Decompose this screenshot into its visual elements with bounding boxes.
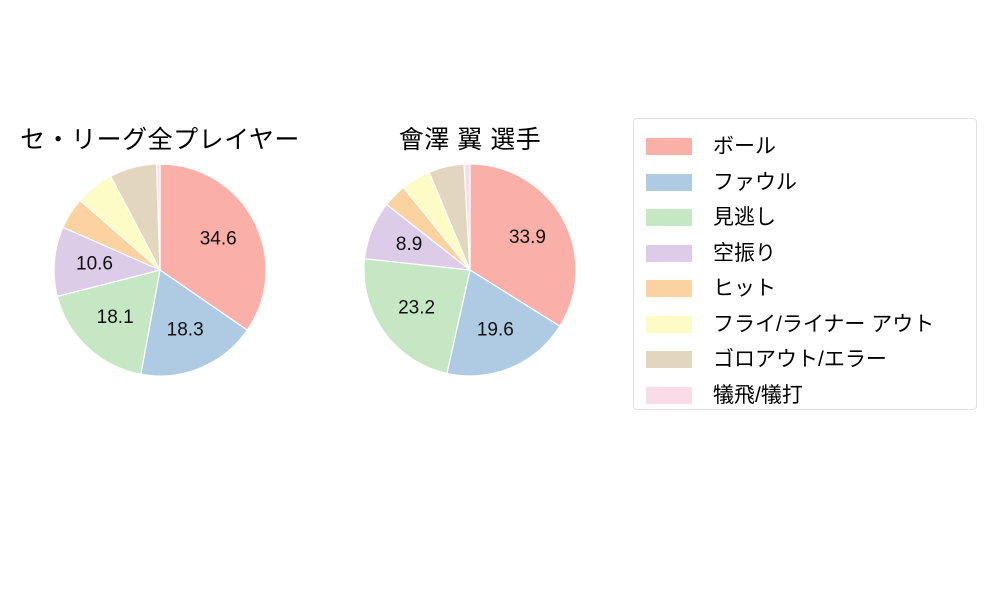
legend-color-swatch: [646, 245, 692, 262]
legend-item-label: 見逃し: [713, 207, 776, 228]
legend-color-swatch: [646, 316, 692, 333]
legend-item-label: ヒット: [713, 278, 776, 299]
legend-item-label: ファウル: [713, 172, 797, 193]
legend-item[interactable]: 犠飛/犠打: [646, 378, 962, 414]
pie-title-right: 會澤 翼 選手: [330, 120, 610, 156]
pie-slice-label: 10.6: [76, 254, 113, 275]
legend-color-swatch: [646, 138, 692, 155]
legend-item[interactable]: ゴロアウト/エラー: [646, 342, 962, 378]
legend-item[interactable]: ファウル: [646, 165, 962, 201]
legend-item[interactable]: 空振り: [646, 236, 962, 272]
pie-slice-label: 8.9: [396, 234, 422, 255]
legend-color-swatch: [646, 387, 692, 404]
pie-slice-label: 34.6: [200, 228, 237, 249]
legend-item[interactable]: ボール: [646, 129, 962, 165]
legend-color-swatch: [646, 351, 692, 368]
chart-legend: ボールファウル見逃し空振りヒットフライ/ライナー アウトゴロアウト/エラー犠飛/…: [633, 118, 977, 410]
legend-item[interactable]: 見逃し: [646, 200, 962, 236]
pie-chart-figure: セ・リーグ全プレイヤー 34.618.318.110.6 會澤 翼 選手 33.…: [0, 0, 1000, 600]
legend-item-label: ゴロアウト/エラー: [713, 349, 887, 370]
pie-slice-label: 33.9: [509, 227, 546, 248]
pie-panel-left: セ・リーグ全プレイヤー 34.618.318.110.6: [20, 120, 300, 410]
pie-title-left: セ・リーグ全プレイヤー: [20, 120, 300, 156]
legend-item-label: ボール: [713, 136, 776, 157]
legend-item-label: 犠飛/犠打: [713, 385, 803, 406]
legend-color-swatch: [646, 209, 692, 226]
legend-item[interactable]: ヒット: [646, 271, 962, 307]
pie-chart-left: 34.618.318.110.6: [20, 158, 300, 408]
legend-item-label: 空振り: [713, 243, 776, 264]
pie-slice-label: 19.6: [477, 320, 514, 341]
pie-chart-right: 33.919.623.28.9: [330, 158, 610, 408]
pie-panel-right: 會澤 翼 選手 33.919.623.28.9: [330, 120, 610, 410]
legend-item[interactable]: フライ/ライナー アウト: [646, 307, 962, 343]
pie-slice-label: 18.3: [167, 320, 204, 341]
legend-color-swatch: [646, 174, 692, 191]
legend-item-label: フライ/ライナー アウト: [713, 314, 934, 335]
pie-slice-label: 18.1: [97, 307, 134, 328]
legend-color-swatch: [646, 280, 692, 297]
pie-slice-label: 23.2: [398, 297, 435, 318]
